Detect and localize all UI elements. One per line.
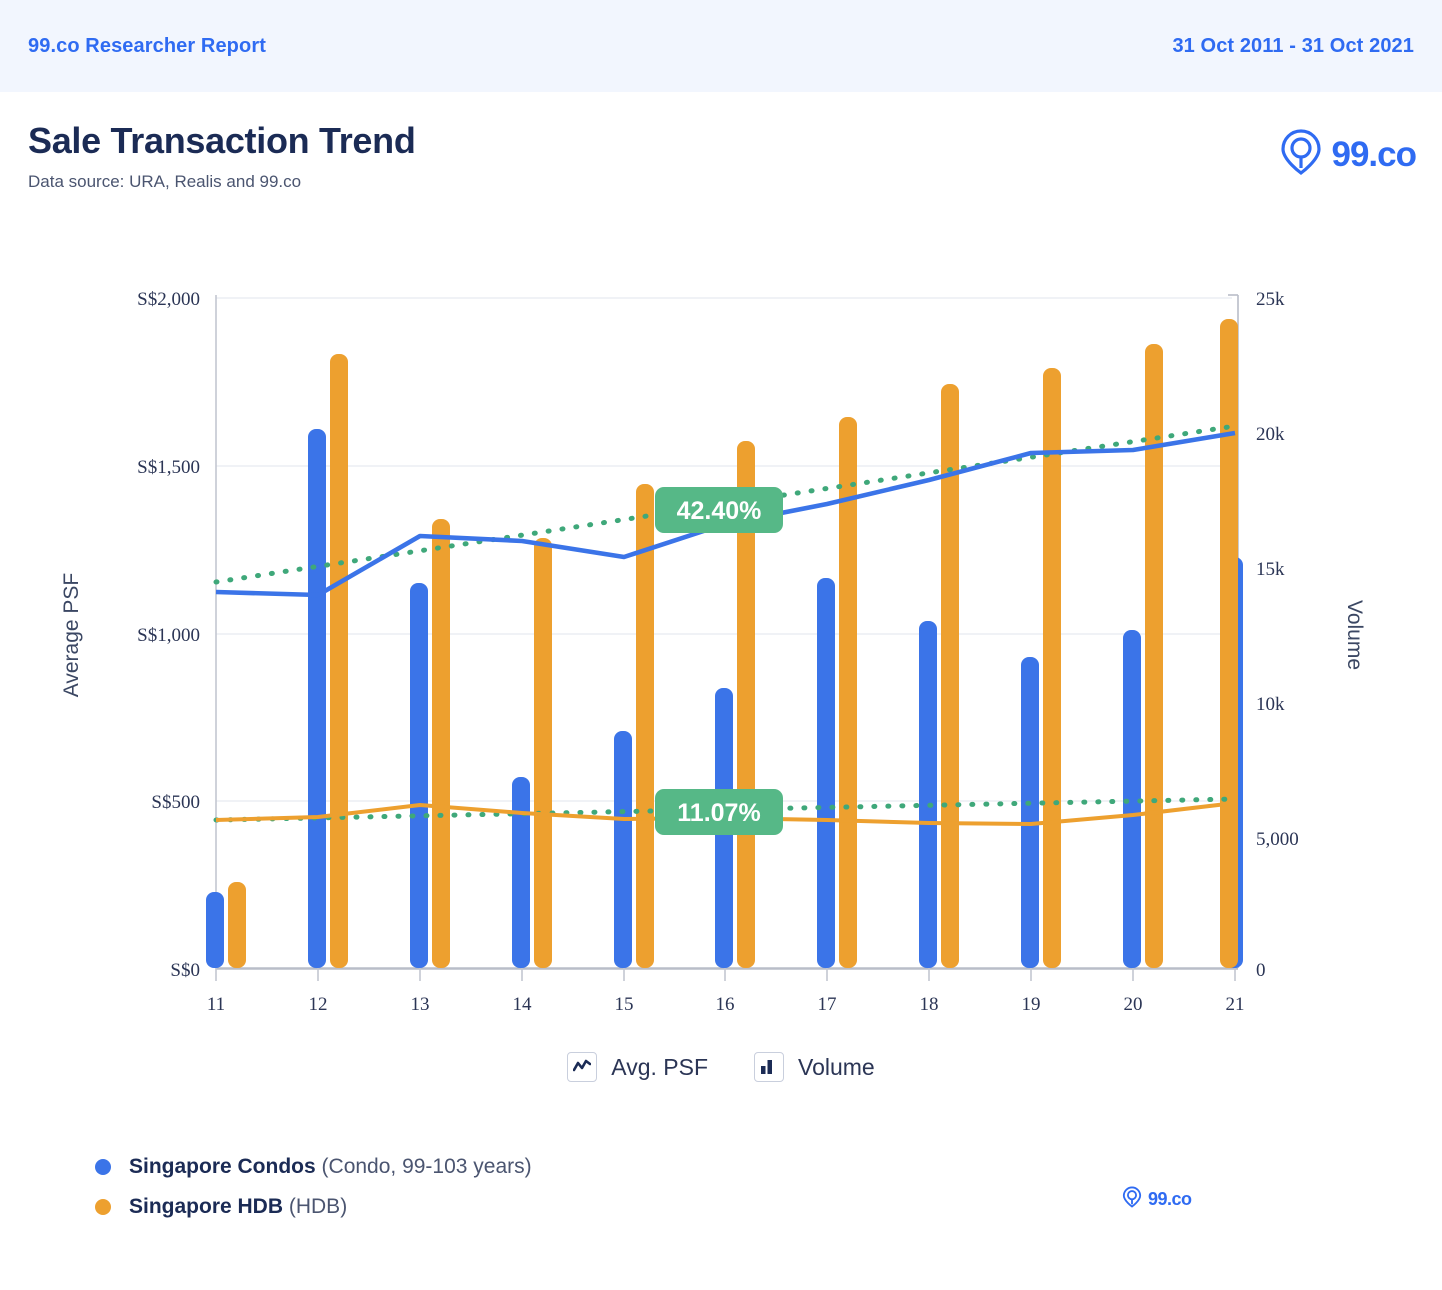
y-axis-right-tick-labels: 25k 20k 15k 10k 5,000 0 — [1256, 289, 1299, 981]
bar-hdb-13 — [432, 519, 450, 968]
legend-name-condos: Singapore Condos — [129, 1155, 316, 1178]
legend-detail-condos: (Condo, 99-103 years) — [322, 1155, 532, 1178]
brand-name: 99.co — [1332, 135, 1417, 175]
y-tick-2000: S$2,000 — [137, 289, 200, 310]
x-axis-tick-labels: 11 12 13 14 15 16 17 18 19 20 21 — [207, 994, 1245, 1015]
y-tick-500: S$500 — [151, 792, 200, 813]
y-tick-1500: S$1,500 — [137, 457, 200, 478]
legend-item-avg-psf-label: Avg. PSF — [611, 1054, 708, 1081]
bar-hdb-12 — [330, 354, 348, 968]
legend-row-hdb[interactable]: Singapore HDB (HDB) — [95, 1195, 532, 1219]
bar-chart-icon — [754, 1052, 784, 1082]
location-pin-icon — [1279, 128, 1323, 181]
watermark-label: 99.co — [1148, 1189, 1192, 1210]
y2-tick-0: 0 — [1256, 960, 1266, 981]
bar-condo-18 — [919, 621, 937, 968]
legend-row-condos[interactable]: Singapore Condos (Condo, 99-103 years) — [95, 1155, 532, 1179]
legend-item-avg-psf[interactable]: Avg. PSF — [567, 1052, 708, 1082]
x-tick-13: 13 — [411, 994, 430, 1015]
x-tick-16: 16 — [716, 994, 735, 1015]
hdb-growth-badge: 11.07% — [655, 789, 783, 835]
chart-watermark: 99.co — [1117, 1183, 1199, 1216]
bar-hdb-21 — [1220, 319, 1238, 968]
report-date-range: 31 Oct 2011 - 31 Oct 2021 — [1172, 35, 1414, 58]
x-tick-20: 20 — [1124, 994, 1143, 1015]
y2-tick-25k: 25k — [1256, 289, 1285, 310]
x-tick-15: 15 — [615, 994, 634, 1015]
bar-hdb-19 — [1043, 368, 1061, 968]
title-block: Sale Transaction Trend Data source: URA,… — [28, 120, 416, 192]
data-source-note: Data source: URA, Realis and 99.co — [28, 172, 416, 192]
y2-tick-15k: 15k — [1256, 559, 1285, 580]
bar-hdb-11 — [228, 882, 246, 968]
x-tick-19: 19 — [1022, 994, 1041, 1015]
property-type-legend: Singapore Condos (Condo, 99-103 years) S… — [95, 1155, 532, 1235]
x-tick-marks — [216, 968, 1235, 981]
report-page: 99.co Researcher Report 31 Oct 2011 - 31… — [0, 0, 1442, 1290]
legend-dot-condos — [95, 1159, 111, 1175]
location-pin-icon — [1122, 1186, 1142, 1213]
y-axis-left-title: Average PSF — [60, 573, 83, 698]
y-tick-1000: S$1,000 — [137, 625, 200, 646]
bar-condo-15 — [614, 731, 632, 968]
bar-condo-12 — [308, 429, 326, 968]
condo-growth-badge-label: 42.40% — [677, 497, 762, 525]
y-axis-right-title: Volume — [1343, 600, 1366, 670]
page-title: Sale Transaction Trend — [28, 120, 416, 162]
legend-name-hdb: Singapore HDB — [129, 1195, 283, 1218]
brand-logo: 99.co — [1279, 128, 1417, 181]
hdb-growth-badge-label: 11.07% — [677, 799, 760, 827]
y2-tick-5000: 5,000 — [1256, 829, 1299, 850]
bar-condo-19 — [1021, 657, 1039, 968]
report-header-bar: 99.co Researcher Report 31 Oct 2011 - 31… — [0, 0, 1442, 92]
legend-item-volume[interactable]: Volume — [754, 1052, 875, 1082]
bar-condo-14 — [512, 777, 530, 968]
line-chart-icon — [567, 1052, 597, 1082]
bar-condo-17 — [817, 578, 835, 968]
x-tick-17: 17 — [818, 994, 837, 1015]
legend-detail-hdb: (HDB) — [289, 1195, 347, 1218]
y2-tick-20k: 20k — [1256, 424, 1285, 445]
chart-area: 42.40% 11.07% S$2,000 S$1,500 S$1,000 S$… — [0, 255, 1442, 1025]
bar-condo-11 — [206, 892, 224, 968]
y-axis-left-tick-labels: S$2,000 S$1,500 S$1,000 S$500 S$0 — [137, 289, 200, 981]
x-tick-18: 18 — [920, 994, 939, 1015]
legend-dot-hdb — [95, 1199, 111, 1215]
condo-growth-badge: 42.40% — [655, 487, 783, 533]
report-label: 99.co Researcher Report — [28, 35, 266, 58]
series-legend: Avg. PSF Volume — [0, 1052, 1442, 1082]
bar-hdb-15 — [636, 484, 654, 968]
x-tick-14: 14 — [513, 994, 533, 1015]
bar-condo-13 — [410, 583, 428, 968]
x-tick-21: 21 — [1226, 994, 1245, 1015]
sale-transaction-trend-chart: 42.40% 11.07% S$2,000 S$1,500 S$1,000 S$… — [0, 255, 1442, 1025]
x-tick-12: 12 — [309, 994, 328, 1015]
legend-label-condos: Singapore Condos (Condo, 99-103 years) — [129, 1155, 532, 1179]
y-tick-0: S$0 — [170, 960, 200, 981]
x-tick-11: 11 — [207, 994, 225, 1015]
y2-tick-10k: 10k — [1256, 694, 1285, 715]
legend-label-hdb: Singapore HDB (HDB) — [129, 1195, 347, 1219]
bar-hdb-14 — [534, 538, 552, 968]
legend-item-volume-label: Volume — [798, 1054, 875, 1081]
